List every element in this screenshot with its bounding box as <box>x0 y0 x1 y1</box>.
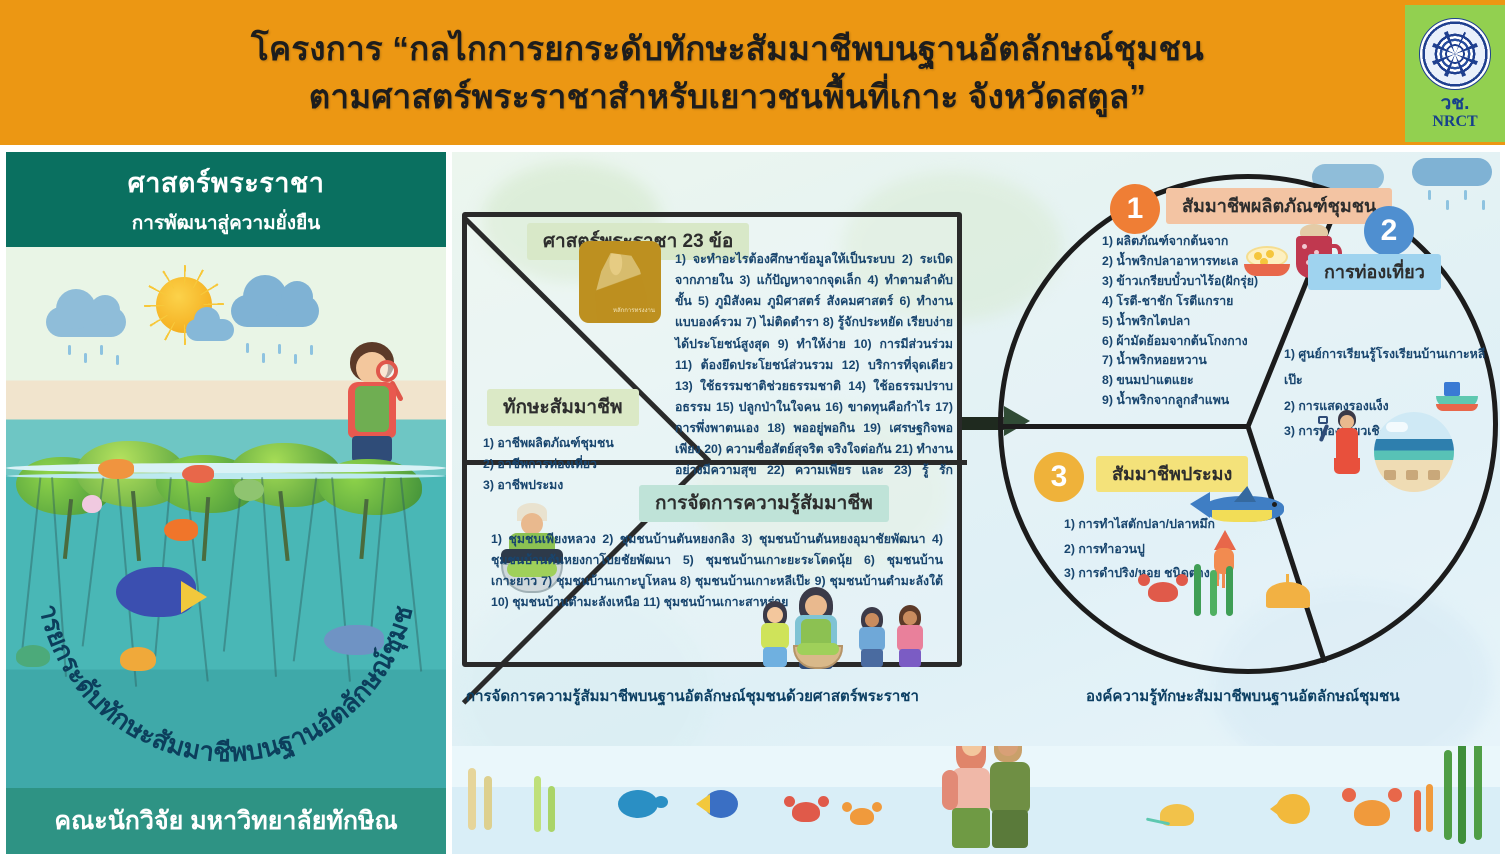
list-item: 2) อาชีพการท่องเที่ยว <box>483 454 683 475</box>
rain-drop-icon <box>84 353 87 363</box>
nrct-seal-icon <box>1419 18 1491 90</box>
sector-2-title-wrap: การท่องเที่ยว <box>1308 254 1441 290</box>
turtle-icon <box>612 786 668 826</box>
sector-1-badge: 1 <box>1110 184 1160 234</box>
tourist-woman-icon <box>1328 410 1364 476</box>
rain-drop-icon <box>100 345 103 355</box>
jellyfish-icon <box>82 495 102 513</box>
list-item: 4) โรตี-ชาชัก โรตีแกราย <box>1102 292 1342 312</box>
left-panel-subtitle: การพัฒนาสู่ความยั่งยืน <box>132 208 320 238</box>
seaweed-icon <box>1184 564 1244 616</box>
research-team-label: คณะนักวิจัย มหาวิทยาลัยทักษิณ <box>54 801 397 841</box>
left-panel: ศาสตร์พระราชา การพัฒนาสู่ความยั่งยืน <box>6 152 446 854</box>
page-title: โครงการ “กลไกการยกระดับทักษะสัมมาชีพบนฐา… <box>0 25 1505 121</box>
rain-drop-icon <box>246 343 249 353</box>
skills-section: ทักษะสัมมาชีพ <box>487 389 639 426</box>
tropical-fish-icon <box>696 786 748 824</box>
king-portrait-caption: หลักการทรงงาน <box>613 308 655 315</box>
sector-3-badge: 3 <box>1034 452 1084 502</box>
fish-icon <box>324 625 384 655</box>
right-panel: ศาสตร์พระราชา 23 ข้อ หลักการทรงงาน 1) จะ… <box>452 152 1500 854</box>
fish-icon <box>182 465 214 483</box>
fish-tail-icon <box>181 581 207 613</box>
nrct-logo-en: NRCT <box>1432 114 1477 130</box>
king-science-body: 1) จะทำอะไรต้องศึกษาข้อมูลให้เป็นระบบ 2)… <box>675 249 953 503</box>
clownfish-icon <box>164 519 198 541</box>
rain-drop-icon <box>294 354 297 364</box>
turtle-icon <box>234 479 264 501</box>
plant-icon <box>526 776 566 832</box>
king-portrait-icon: หลักการทรงงาน <box>579 241 661 323</box>
rain-drop-icon <box>278 344 281 354</box>
cloud-icon <box>186 319 234 341</box>
infographic-poster: โครงการ “กลไกการยกระดับทักษะสัมมาชีพบนฐา… <box>0 0 1505 861</box>
stingray-icon <box>1152 798 1208 832</box>
rain-drop-icon <box>68 345 71 355</box>
beach-photo-icon <box>1374 412 1454 492</box>
fish-icon <box>98 459 134 479</box>
list-item: 5) น้ำพริกไตปลา <box>1102 312 1342 332</box>
coral-icon <box>1408 784 1442 832</box>
competency-wheel-diagram: 1 สัมมาชีพผลิตภัณฑ์ชุมชน 1) ผลิตภัณฑ์จาก… <box>998 174 1498 674</box>
cloud-icon <box>231 295 319 327</box>
bottom-sea-strip <box>452 746 1500 854</box>
rain-drop-icon <box>116 355 119 365</box>
dessert-bowl-icon <box>1244 244 1290 278</box>
rain-drop-icon <box>310 345 313 355</box>
turtle-icon <box>120 647 156 671</box>
page-title-line1: โครงการ “กลไกการยกระดับทักษะสัมมาชีพบนฐา… <box>251 30 1204 67</box>
left-panel-footer-bar: คณะนักวิจัย มหาวิทยาลัยทักษิณ <box>6 788 446 854</box>
boat-icon <box>1434 382 1480 414</box>
list-item: 2) การทำอวนปู <box>1064 537 1304 562</box>
caption-right: องค์ความรู้ทักษะสัมมาชีพบนฐานอัตลักษณ์ชุ… <box>1086 684 1400 708</box>
sector-1-title-wrap: สัมมาชีพผลิตภัณฑ์ชุมชน <box>1166 188 1392 224</box>
crab-icon <box>16 645 50 667</box>
sector-1-title: สัมมาชีพผลิตภัณฑ์ชุมชน <box>1166 188 1392 224</box>
wheel-spoke <box>1000 424 1248 429</box>
nrct-logo: วช. NRCT <box>1405 5 1505 142</box>
tourist-couple-icon <box>928 746 1058 852</box>
cloud-icon <box>46 307 126 337</box>
crab-icon <box>1138 574 1188 608</box>
knowledge-diamond-diagram: ศาสตร์พระราชา 23 ข้อ หลักการทรงงาน 1) จะ… <box>462 212 962 667</box>
knowledge-mgmt-section: การจัดการความรู้สัมมาชีพ <box>639 485 889 522</box>
orange-crab-icon <box>1342 788 1402 832</box>
page-title-line2: ตามศาสตร์พระราชาสำหรับเยาวชนพื้นที่เกาะ … <box>30 73 1425 121</box>
seaweed-icon <box>462 768 506 832</box>
left-panel-title: ศาสตร์พระราชา <box>128 161 325 204</box>
nrct-logo-th: วช. <box>1441 94 1470 113</box>
family-harvest-icon <box>757 587 937 669</box>
caption-left: การจัดการความรู้สัมมาชีพบนฐานอัตลักษณ์ชุ… <box>466 684 919 708</box>
mangrove-scene-illustration: การยกระดับทักษะสัมมาชีพบนฐานอัตลักษณ์ชุม… <box>6 247 446 803</box>
plant-icon <box>1444 746 1500 846</box>
rain-drop-icon <box>262 353 265 363</box>
water-surface <box>6 463 446 473</box>
sector-2-badge: 2 <box>1364 206 1414 256</box>
mangrove-roots-icon <box>6 477 446 737</box>
knowledge-mgmt-title: การจัดการความรู้สัมมาชีพ <box>639 485 889 522</box>
left-panel-title-bar: ศาสตร์พระราชา การพัฒนาสู่ความยั่งยืน <box>6 152 446 247</box>
shell-icon <box>1266 574 1310 608</box>
poster-header: โครงการ “กลไกการยกระดับทักษะสัมมาชีพบนฐา… <box>0 0 1505 145</box>
angelfish-icon <box>1270 790 1322 828</box>
small-crab-icon <box>842 802 882 830</box>
shark-icon <box>1190 486 1300 532</box>
crab-icon <box>784 796 828 828</box>
list-item: 1) อาชีพผลิตภัณฑ์ชุมชน <box>483 433 683 454</box>
sector-2-title: การท่องเที่ยว <box>1308 254 1441 290</box>
skills-title: ทักษะสัมมาชีพ <box>487 389 639 426</box>
